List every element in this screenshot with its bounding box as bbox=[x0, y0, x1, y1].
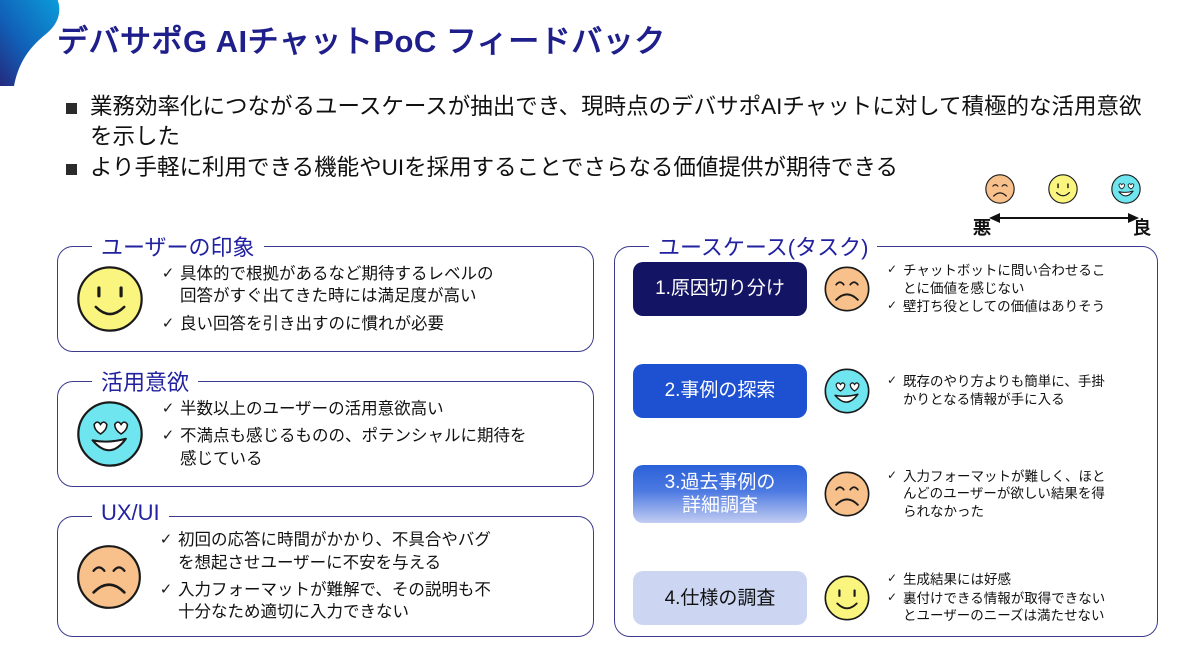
list-item-text: 不満点も感じるものの、ポテンシャルに期待を 感じている bbox=[180, 425, 527, 470]
check-icon: ✓ bbox=[881, 468, 903, 484]
usecase-row: 4.仕様の調査 ✓ 生成結果には好感 ✓ bbox=[633, 570, 1147, 626]
happy-face-cyan-icon bbox=[1109, 172, 1143, 206]
list-item-text: 既存のやり方よりも簡単に、手掛 かりとなる情報が手に入る bbox=[903, 373, 1105, 408]
list-item: ✓ 入力フォーマットが難しく、ほと んどのユーザーが欲しい結果を得 られなかった bbox=[881, 468, 1147, 521]
check-icon: ✓ bbox=[881, 373, 903, 389]
check-icon: ✓ bbox=[881, 590, 903, 606]
panel-item-list: ✓ 初回の応答に時間がかかり、不具合やバグ を想起させユーザーに不安を与える ✓… bbox=[154, 524, 593, 628]
usecase-chip-4[interactable]: 4.仕様の調査 bbox=[633, 571, 807, 625]
neutral-face-yellow-icon bbox=[821, 572, 873, 624]
panel-use-cases: ユースケース(タスク) 1.原因切り分け ✓ チャットボットに問い合わせ bbox=[614, 246, 1158, 637]
bullet-item: 業務効率化につながるユースケースが抽出でき、現時点のデバサポAIチャットに対して… bbox=[66, 92, 1156, 151]
panel-user-impression: ユーザーの印象 ✓ 具体的で根拠があるなど期待するレベルの 回答がすぐ出てきた時… bbox=[57, 246, 594, 352]
bullet-square-icon bbox=[66, 164, 77, 175]
panel-title: ユースケース(タスク) bbox=[649, 230, 877, 262]
list-item: ✓ 既存のやり方よりも簡単に、手掛 かりとなる情報が手に入る bbox=[881, 373, 1147, 408]
list-item: ✓ 半数以上のユーザーの活用意欲高い bbox=[156, 398, 583, 420]
list-item: ✓ 入力フォーマットが難解で、その説明も不 十分なため適切に入力できない bbox=[154, 579, 583, 624]
check-icon: ✓ bbox=[156, 263, 180, 283]
legend-label-bad: 悪 bbox=[973, 214, 991, 240]
panel-title: ユーザーの印象 bbox=[92, 230, 264, 262]
usecase-item-list: ✓ 入力フォーマットが難しく、ほと んどのユーザーが欲しい結果を得 られなかった bbox=[879, 467, 1147, 522]
list-item: ✓ 不満点も感じるものの、ポテンシャルに期待を 感じている bbox=[156, 425, 583, 470]
usecase-row: 1.原因切り分け ✓ チャットボットに問い合わせるこ とに価値を感じない bbox=[633, 261, 1147, 317]
list-item: ✓ 壁打ち役としての価値はありそう bbox=[881, 298, 1147, 316]
list-item-text: 入力フォーマットが難解で、その説明も不 十分なため適切に入力できない bbox=[178, 579, 491, 624]
usecase-chip-3[interactable]: 3.過去事例の 詳細調査 bbox=[633, 465, 807, 523]
list-item-text: 壁打ち役としての価値はありそう bbox=[903, 298, 1105, 316]
list-item-text: 裏付けできる情報が取得できない とユーザーのニーズは満たせない bbox=[903, 590, 1105, 625]
sad-face-orange-icon bbox=[821, 263, 873, 315]
list-item-text: 半数以上のユーザーの活用意欲高い bbox=[180, 398, 444, 420]
sad-face-orange-icon bbox=[72, 540, 146, 614]
check-icon: ✓ bbox=[154, 529, 178, 549]
check-icon: ✓ bbox=[881, 571, 903, 587]
panel-item-list: ✓ 具体的で根拠があるなど期待するレベルの 回答がすぐ出てきた時には満足度が高い… bbox=[156, 258, 593, 340]
list-item: ✓ 初回の応答に時間がかかり、不具合やバグ を想起させユーザーに不安を与える bbox=[154, 529, 583, 574]
list-item-text: 生成結果には好感 bbox=[903, 571, 1011, 589]
usecase-item-list: ✓ チャットボットに問い合わせるこ とに価値を感じない ✓ 壁打ち役としての価値… bbox=[879, 261, 1147, 317]
panel-item-list: ✓ 半数以上のユーザーの活用意欲高い ✓ 不満点も感じるものの、ポテンシャルに期… bbox=[156, 393, 593, 475]
panel-title: 活用意欲 bbox=[92, 365, 198, 397]
list-item-text: 入力フォーマットが難しく、ほと んどのユーザーが欲しい結果を得 られなかった bbox=[903, 468, 1106, 521]
legend-face-row bbox=[983, 172, 1143, 206]
bullet-text: 業務効率化につながるユースケースが抽出でき、現時点のデバサポAIチャットに対して… bbox=[90, 92, 1156, 151]
list-item-text: 良い回答を引き出すのに慣れが必要 bbox=[180, 313, 444, 335]
usecase-chip-1[interactable]: 1.原因切り分け bbox=[633, 262, 807, 316]
check-icon: ✓ bbox=[881, 262, 903, 278]
panel-usage-motivation: 活用意欲 ✓ 半数以上のユーザーの活用意欲高い ✓ 不満点も感じるものの、ポテン… bbox=[57, 381, 594, 487]
list-item-text: 初回の応答に時間がかかり、不具合やバグ を想起させユーザーに不安を与える bbox=[178, 529, 491, 574]
usecase-chip-2[interactable]: 2.事例の探索 bbox=[633, 364, 807, 418]
bullet-square-icon bbox=[66, 103, 77, 114]
list-item-text: チャットボットに問い合わせるこ とに価値を感じない bbox=[903, 262, 1105, 297]
usecase-item-list: ✓ 既存のやり方よりも簡単に、手掛 かりとなる情報が手に入る bbox=[879, 372, 1147, 409]
legend-label-good: 良 bbox=[1133, 214, 1151, 240]
check-icon: ✓ bbox=[156, 425, 180, 445]
slide-root: デバサポG AIチャットPoC フィードバック 業務効率化につながるユースケース… bbox=[0, 0, 1200, 648]
check-icon: ✓ bbox=[881, 298, 903, 314]
list-item: ✓ チャットボットに問い合わせるこ とに価値を感じない bbox=[881, 262, 1147, 297]
sad-face-orange-icon bbox=[821, 468, 873, 520]
list-item: ✓ 具体的で根拠があるなど期待するレベルの 回答がすぐ出てきた時には満足度が高い bbox=[156, 263, 583, 308]
legend-scale-axis: 悪 良 bbox=[975, 208, 1151, 234]
list-item-text: 具体的で根拠があるなど期待するレベルの 回答がすぐ出てきた時には満足度が高い bbox=[180, 263, 494, 308]
usecase-item-list: ✓ 生成結果には好感 ✓ 裏付けできる情報が取得できない とユーザーのニーズは満… bbox=[879, 570, 1147, 626]
check-icon: ✓ bbox=[154, 579, 178, 599]
check-icon: ✓ bbox=[156, 313, 180, 333]
sad-face-orange-icon bbox=[983, 172, 1017, 206]
usecase-row: 2.事例の探索 ✓ 既存のやり方よりも簡単に、手掛 かりとなる情報が手に入る bbox=[633, 364, 1147, 418]
neutral-face-yellow-icon bbox=[1046, 172, 1080, 206]
happy-face-cyan-icon bbox=[72, 396, 148, 472]
panel-ux-ui: UX/UI ✓ 初回の応答に時間がかかり、不具合やバグ を想起させユーザーに不安… bbox=[57, 516, 594, 637]
check-icon: ✓ bbox=[156, 398, 180, 418]
page-title: デバサポG AIチャットPoC フィードバック bbox=[57, 16, 666, 61]
happy-face-cyan-icon bbox=[821, 365, 873, 417]
neutral-face-yellow-icon bbox=[72, 261, 148, 337]
usecase-row: 3.過去事例の 詳細調査 ✓ 入力フォーマットが難しく、ほと んどのユーザーが欲… bbox=[633, 465, 1147, 523]
list-item: ✓ 生成結果には好感 bbox=[881, 571, 1147, 589]
list-item: ✓ 良い回答を引き出すのに慣れが必要 bbox=[156, 313, 583, 335]
double-headed-arrow-icon bbox=[989, 210, 1139, 226]
rating-legend: 悪 良 bbox=[975, 172, 1155, 242]
list-item: ✓ 裏付けできる情報が取得できない とユーザーのニーズは満たせない bbox=[881, 590, 1147, 625]
panel-title: UX/UI bbox=[92, 500, 169, 526]
